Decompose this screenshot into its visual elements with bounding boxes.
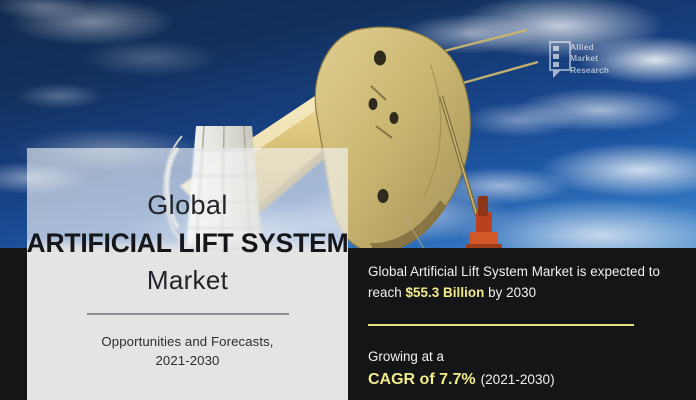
card-divider [87, 313, 289, 315]
market-report-banner: Global ARTIFICIAL LIFT SYSTEM Market Opp… [0, 0, 696, 400]
stats-divider [368, 324, 634, 326]
logo-line-3: Research [570, 65, 609, 76]
card-tagline-line-2: 2021-2030 [101, 351, 273, 370]
market-size-year-text: by 2030 [484, 285, 536, 300]
allied-market-research-logo[interactable]: Allied Market Research [549, 41, 613, 79]
card-tagline: Opportunities and Forecasts, 2021-2030 [101, 332, 273, 370]
cagr-statement: CAGR of 7.7%(2021-2030) [368, 369, 668, 391]
logo-line-1: Allied [570, 42, 609, 53]
stats-panel: Global Artificial Lift System Market is … [368, 262, 668, 391]
market-size-value: $55.3 Billion [406, 285, 485, 300]
card-tagline-line-1: Opportunities and Forecasts, [101, 332, 273, 351]
cagr-value: CAGR of 7.7% [368, 371, 476, 388]
card-eyebrow: Global [147, 192, 227, 219]
speech-bubble-list-icon [549, 41, 571, 79]
growth-label: Growing at a [368, 347, 668, 367]
cagr-period: (2021-2030) [481, 372, 555, 387]
card-subtitle: Market [147, 267, 228, 293]
title-card: Global ARTIFICIAL LIFT SYSTEM Market Opp… [27, 148, 348, 400]
market-size-statement: Global Artificial Lift System Market is … [368, 262, 668, 304]
page-title: ARTIFICIAL LIFT SYSTEM [27, 230, 349, 257]
logo-wordmark: Allied Market Research [570, 42, 609, 76]
logo-line-2: Market [570, 53, 609, 64]
